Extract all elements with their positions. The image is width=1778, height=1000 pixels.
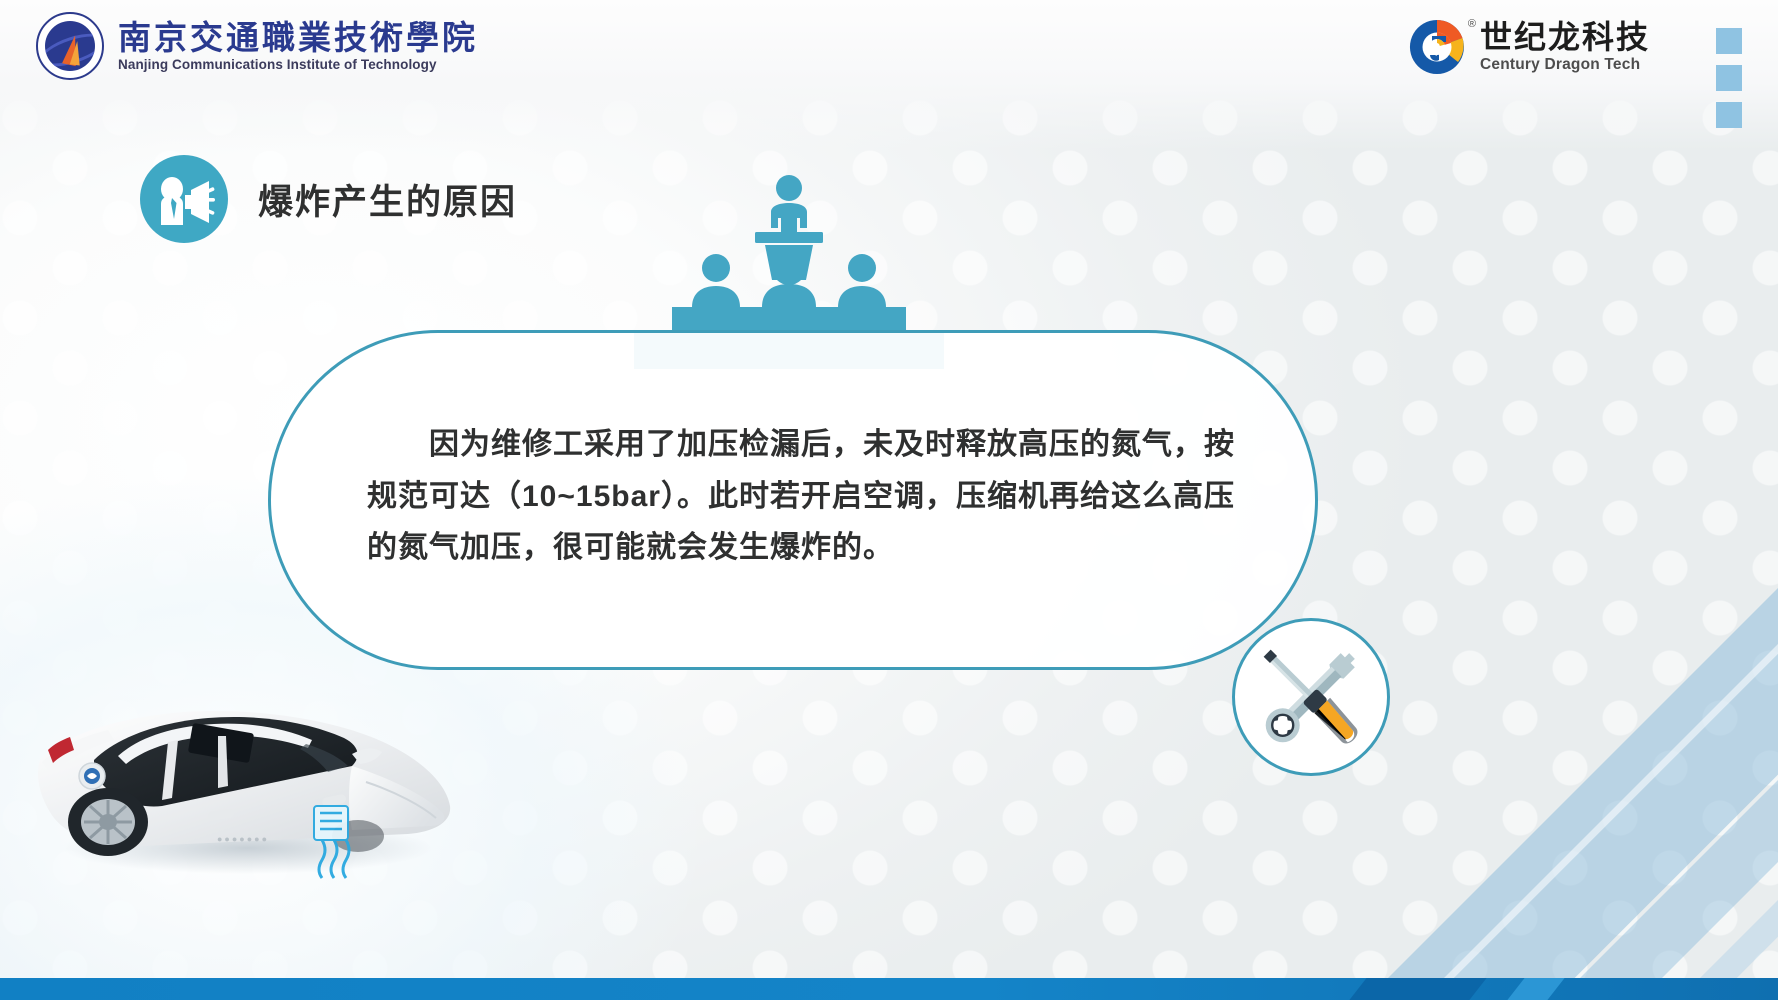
wrench-screwdriver-icon [1232,618,1390,776]
university-name-cn: 南京交通職業技術學院 [118,20,478,56]
university-name-en: Nanjing Communications Institute of Tech… [118,57,478,72]
body-paragraph: 因为维修工采用了加压检漏后，未及时释放高压的氮气，按规范可达（10~15bar）… [367,419,1247,574]
section-title-group: 爆炸产生的原因 [140,155,517,243]
century-dragon-mark-icon: ® [1406,16,1468,78]
company-logo: ® 世纪龙科技 Century Dragon Tech [1406,16,1650,78]
trademark-symbol: ® [1468,18,1476,30]
university-logo: 南京交通職業技術學院 Nanjing Communications Instit… [36,12,478,80]
white-sedan-photo: ●●●●●●● [22,610,462,880]
slide-root: 南京交通職業技術學院 Nanjing Communications Instit… [0,0,1778,1000]
company-name-cn: 世纪龙科技 [1480,20,1650,55]
slide-header: 南京交通職業技術學院 Nanjing Communications Instit… [0,0,1778,100]
page-title: 爆炸产生的原因 [258,174,517,225]
corner-squares-decor [1716,28,1742,128]
megaphone-person-icon [140,155,228,243]
footer-bar [0,978,1778,1000]
svg-text:●●●●●●●: ●●●●●●● [217,834,269,844]
company-name-en: Century Dragon Tech [1480,56,1650,74]
university-seal-icon [36,12,104,80]
